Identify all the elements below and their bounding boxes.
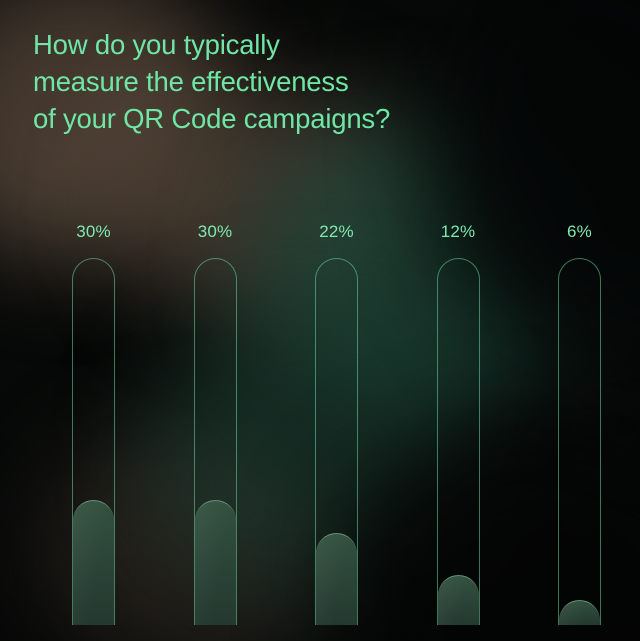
bar-category-label: DON'T MEASURE	[0, 491, 531, 630]
bar-chart-plot: 30%CLICK-THROUGH RATELY30%CUSTOMER ENGAG…	[0, 0, 640, 641]
bar-value-label: 6%	[558, 222, 601, 242]
bar-value-label: 30%	[72, 222, 115, 242]
bar-fill[interactable]	[559, 600, 600, 625]
bar-value-label: 12%	[437, 222, 480, 242]
chart-canvas: How do you typically measure the effecti…	[0, 0, 640, 641]
bar-group: 6%DON'T MEASURE	[558, 0, 601, 641]
bar-track	[558, 258, 601, 625]
bar-value-label: 22%	[315, 222, 358, 242]
bar-value-label: 30%	[194, 222, 237, 242]
